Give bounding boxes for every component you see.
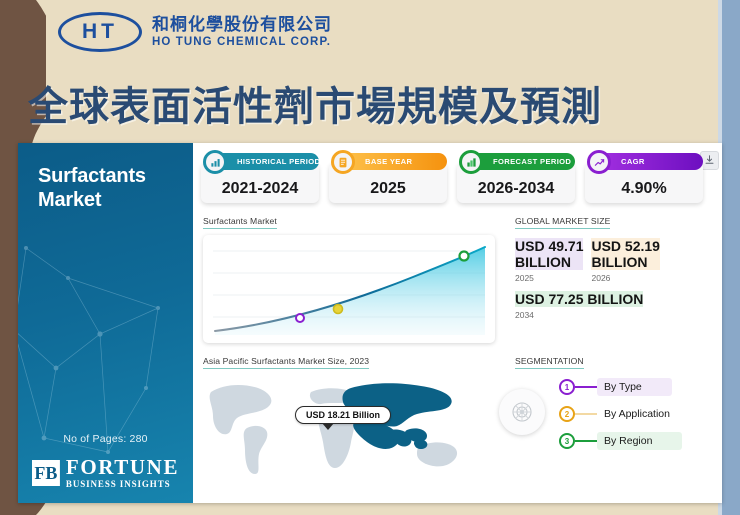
map-column: Asia Pacific Surfactants Market Size, 20… bbox=[203, 351, 503, 479]
infographic-content: HISTORICAL PERIOD 2021-2024 BASE YEAR bbox=[193, 143, 722, 503]
world-map-svg bbox=[203, 374, 495, 479]
market-size-figure-row: USD 49.71 BILLION 2025 USD 52.19 BILLION… bbox=[515, 238, 722, 283]
ht-logo-text: HT bbox=[82, 20, 118, 44]
segmentation-item-by-region[interactable]: 3 By Region bbox=[515, 432, 722, 450]
map-label: Asia Pacific Surfactants Market Size, 20… bbox=[203, 356, 369, 369]
segmentation-item-by-type[interactable]: 1 By Type bbox=[515, 378, 722, 396]
report-cover-panel: Surfactants Market No of Pages: 280 FB F… bbox=[18, 143, 193, 503]
map-tooltip: USD 18.21 Billion bbox=[295, 406, 391, 424]
panel-title-line2: Market bbox=[38, 189, 101, 211]
chart-label: Surfactants Market bbox=[203, 216, 277, 229]
segmentation-number-2: 2 bbox=[559, 406, 575, 422]
badge-pill-2: FORECAST PERIOD bbox=[471, 153, 575, 170]
global-market-size-heading: GLOBAL MARKET SIZE bbox=[515, 216, 610, 229]
bar-chart-up-glyph-icon bbox=[466, 157, 477, 168]
global-market-size-section: GLOBAL MARKET SIZE USD 49.71 BILLION 202… bbox=[503, 211, 722, 343]
segmentation-wheel-icon bbox=[499, 389, 545, 435]
market-size-2026-year: 2026 bbox=[591, 273, 659, 283]
market-size-2026-amount-l2: BILLION bbox=[591, 254, 647, 270]
kpi-badge-row: HISTORICAL PERIOD 2021-2024 BASE YEAR bbox=[193, 143, 722, 203]
market-size-2025: USD 49.71 BILLION 2025 bbox=[515, 238, 583, 283]
market-size-2034-year: 2034 bbox=[515, 310, 722, 320]
badge-base-year[interactable]: BASE YEAR 2025 bbox=[329, 153, 447, 203]
market-growth-chart[interactable] bbox=[203, 235, 495, 343]
fortune-mark-text: FB bbox=[34, 463, 57, 484]
badge-pill-0: HISTORICAL PERIOD bbox=[215, 153, 319, 170]
trend-up-glyph-icon bbox=[594, 157, 605, 168]
badge-pill-1: BASE YEAR bbox=[343, 153, 447, 170]
market-size-2034: USD 77.25 BILLION 2034 bbox=[515, 291, 722, 320]
panel-title-line1: Surfactants bbox=[38, 165, 146, 187]
badge-cagr[interactable]: CAGR 4.90% bbox=[585, 153, 703, 203]
market-size-2026-amount-l1: USD 52.19 bbox=[591, 238, 659, 254]
market-size-2025-amount: USD 49.71 BILLION bbox=[515, 238, 583, 270]
document-icon bbox=[331, 150, 355, 174]
segmentation-wheel-glyph-icon bbox=[509, 399, 535, 425]
market-size-2025-amount-l2: BILLION bbox=[515, 254, 571, 270]
segmentation-connector-3 bbox=[575, 440, 597, 442]
market-size-2025-year: 2025 bbox=[515, 273, 583, 283]
segmentation-number-1: 1 bbox=[559, 379, 575, 395]
document-glyph-icon bbox=[338, 157, 348, 168]
publisher-logo: FB FORTUNE BUSINESS INSIGHTS bbox=[18, 457, 193, 489]
market-size-2025-amount-l1: USD 49.71 bbox=[515, 238, 583, 254]
download-glyph-icon bbox=[704, 155, 715, 166]
segmentation-label-by-region: By Region bbox=[597, 432, 682, 450]
segmentation-section: SEGMENTATION 1 By Type bbox=[503, 351, 722, 479]
segmentation-label-by-application: By Application bbox=[597, 405, 700, 423]
chart-marker-2034 bbox=[460, 252, 469, 261]
segmentation-number-3: 3 bbox=[559, 433, 575, 449]
company-name-en: HO TUNG CHEMICAL CORP. bbox=[152, 36, 332, 48]
badge-historical-period[interactable]: HISTORICAL PERIOD 2021-2024 bbox=[201, 153, 319, 203]
fortune-mark-icon: FB bbox=[32, 460, 60, 486]
company-name-block: 和桐化學股份有限公司 HO TUNG CHEMICAL CORP. bbox=[152, 16, 332, 49]
panel-title: Surfactants Market bbox=[18, 143, 193, 212]
bar-chart-glyph-icon bbox=[210, 157, 221, 168]
slide: HT 和桐化學股份有限公司 HO TUNG CHEMICAL CORP. 全球表… bbox=[0, 0, 740, 515]
segmentation-label-by-type: By Type bbox=[597, 378, 672, 396]
publisher-name: FORTUNE BUSINESS INSIGHTS bbox=[66, 457, 179, 489]
company-name-cn: 和桐化學股份有限公司 bbox=[152, 16, 332, 35]
segmentation-item-by-application[interactable]: 2 By Application bbox=[515, 405, 722, 423]
chart-column: Surfactants Market bbox=[203, 211, 503, 343]
badge-forecast-period[interactable]: FORECAST PERIOD 2026-2034 bbox=[457, 153, 575, 203]
publisher-name-line2: BUSINESS INSIGHTS bbox=[66, 480, 179, 489]
world-map[interactable]: USD 18.21 Billion bbox=[203, 374, 495, 479]
market-size-2026-amount: USD 52.19 BILLION bbox=[591, 238, 659, 270]
right-blue-band bbox=[722, 0, 740, 515]
ht-oval-logo-icon: HT bbox=[58, 12, 142, 52]
bottom-section: Asia Pacific Surfactants Market Size, 20… bbox=[193, 343, 722, 479]
infographic-card: Surfactants Market No of Pages: 280 FB F… bbox=[18, 143, 722, 503]
chart-marker-2026 bbox=[334, 305, 343, 314]
publisher-name-line1: FORTUNE bbox=[66, 457, 179, 478]
chart-marker-2025 bbox=[296, 314, 304, 322]
bar-chart-icon bbox=[203, 150, 227, 174]
segmentation-connector-2 bbox=[575, 413, 597, 415]
badge-pill-3: CAGR bbox=[599, 153, 703, 170]
mid-section: Surfactants Market bbox=[193, 203, 722, 343]
trend-up-icon bbox=[587, 150, 611, 174]
area-chart-svg bbox=[203, 235, 495, 343]
segmentation-connector-1 bbox=[575, 386, 597, 388]
page-title: 全球表面活性劑市場規模及預測 bbox=[28, 74, 602, 132]
company-logo: HT 和桐化學股份有限公司 HO TUNG CHEMICAL CORP. bbox=[58, 12, 332, 52]
market-size-2034-amount: USD 77.25 BILLION bbox=[515, 291, 643, 307]
bar-chart-up-icon bbox=[459, 150, 483, 174]
segmentation-heading: SEGMENTATION bbox=[515, 356, 584, 369]
market-size-2026: USD 52.19 BILLION 2026 bbox=[591, 238, 659, 283]
page-count: No of Pages: 280 bbox=[18, 433, 193, 445]
